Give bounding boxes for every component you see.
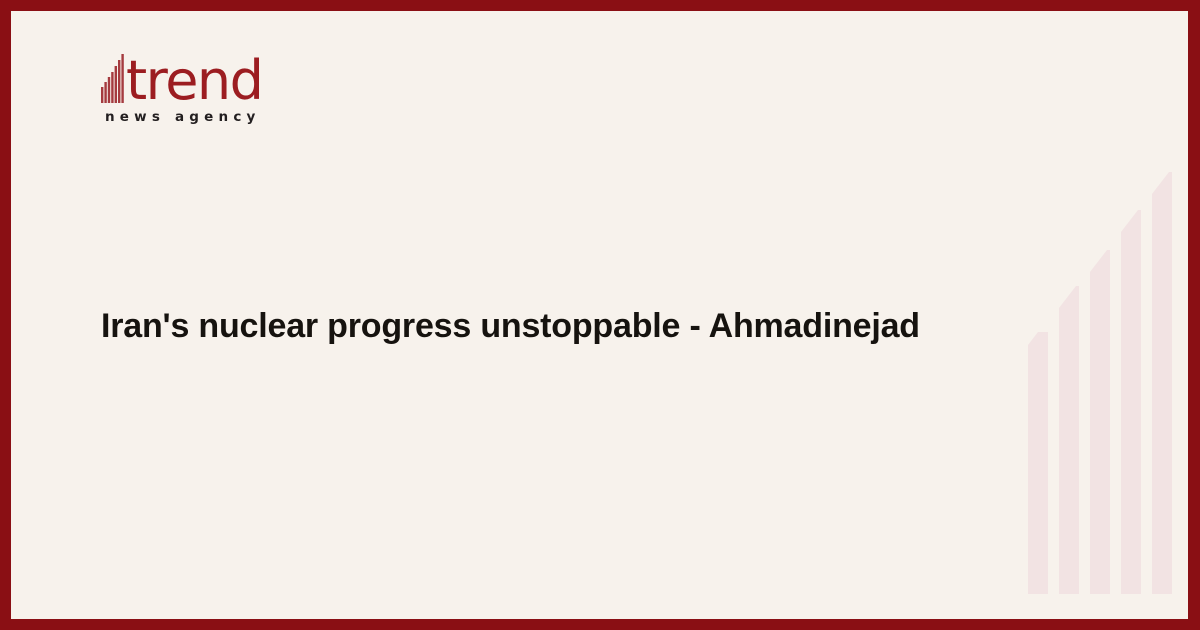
ascending-bar-motif bbox=[1028, 164, 1176, 594]
brand-logo[interactable]: trend news agency bbox=[101, 51, 401, 125]
headline-title: Iran's nuclear progress unstoppable - Ah… bbox=[101, 303, 1031, 349]
social-share-card: trend news agency Iran's nuclear progres… bbox=[0, 0, 1200, 630]
logo-wordmark: trend bbox=[126, 56, 262, 106]
trend-stepped-bars-icon bbox=[101, 53, 125, 103]
card-canvas: trend news agency Iran's nuclear progres… bbox=[11, 11, 1188, 619]
logo-top-row: trend bbox=[101, 51, 401, 103]
